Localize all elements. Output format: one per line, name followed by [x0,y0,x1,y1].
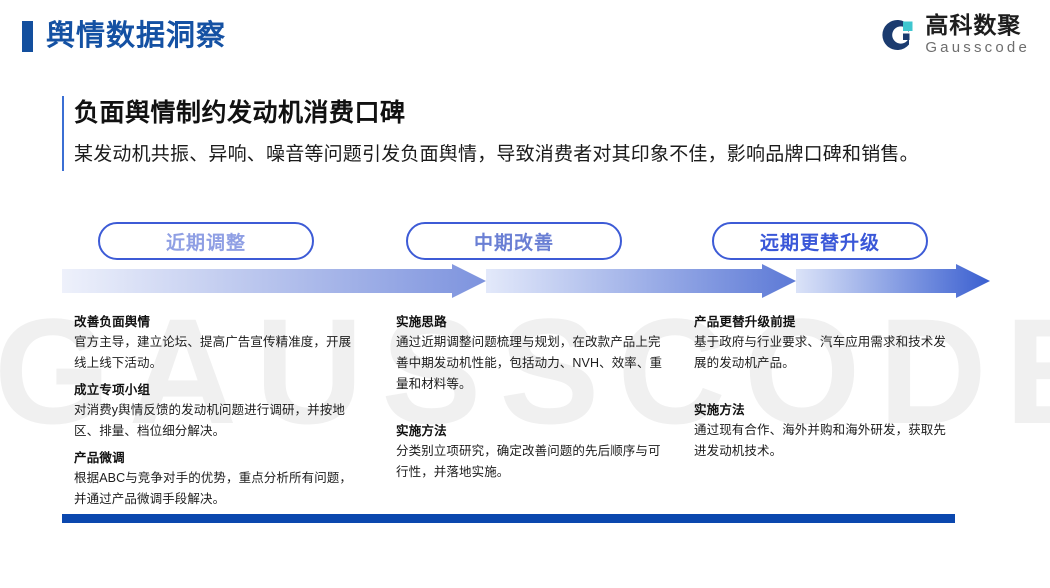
detail-block-title: 产品更替升级前提 [694,312,952,332]
detail-block: 实施方法 通过现有合作、海外并购和海外研发，获取先进发动机技术。 [694,400,952,462]
detail-block: 产品微调 根据ABC与竞争对手的优势，重点分析所有问题，并通过产品微调手段解决。 [74,448,362,510]
gausscode-logo-icon [876,15,916,55]
brand-logo: 高科数聚 Gausscode [876,14,1030,55]
detail-block: 实施方法 分类别立项研究，确定改善问题的先后顺序与可行性，并落地实施。 [396,421,668,483]
detail-block-title: 改善负面舆情 [74,312,362,332]
phase-detail-columns: 改善负面舆情 官方主导，建立论坛、提高广告宣传精准度，开展线上线下活动。 成立专… [0,312,1050,502]
phase-pill-row: 近期调整 中期改善 远期更替升级 [0,222,1050,260]
detail-block-body: 通过现有合作、海外并购和海外研发，获取先进发动机技术。 [694,420,952,462]
detail-block: 成立专项小组 对消费y舆情反馈的发动机问题进行调研，并按地区、排量、档位细分解决… [74,380,362,442]
phase-pill-mid-term-label: 中期改善 [474,228,554,255]
lead-headline: 负面舆情制约发动机消费口碑 [74,96,406,130]
title-marker-icon [22,21,33,52]
logo-name-cn: 高科数聚 [925,14,1030,37]
detail-block-title: 产品微调 [74,448,362,468]
lead-subhead: 某发动机共振、异响、噪音等问题引发负面舆情，导致消费者对其印象不佳，影响品牌口碑… [74,140,919,170]
logo-wordmark: 高科数聚 Gausscode [925,14,1030,55]
phase-pill-long-term[interactable]: 远期更替升级 [712,222,928,260]
phase-column-mid-term: 实施思路 通过近期调整问题梳理与规划，在改款产品上完善中期发动机性能，包括动力、… [396,312,668,483]
slide-canvas: GAUSSCODE 舆情数据洞察 高科数聚 Gausscode 负面舆情制约发动… [0,0,1050,588]
detail-block-title: 实施思路 [396,312,668,332]
detail-block: 改善负面舆情 官方主导，建立论坛、提高广告宣传精准度，开展线上线下活动。 [74,312,362,374]
detail-block-body: 分类别立项研究，确定改善问题的先后顺序与可行性，并落地实施。 [396,441,668,483]
detail-block-body: 根据ABC与竞争对手的优势，重点分析所有问题，并通过产品微调手段解决。 [74,468,362,510]
detail-block: 实施思路 通过近期调整问题梳理与规划，在改款产品上完善中期发动机性能，包括动力、… [396,312,668,395]
footer-accent-bar [62,514,955,523]
detail-block-title: 实施方法 [694,400,952,420]
phase-column-long-term: 产品更替升级前提 基于政府与行业要求、汽车应用需求和技术发展的发动机产品。 实施… [694,312,952,462]
phase-column-near-term: 改善负面舆情 官方主导，建立论坛、提高广告宣传精准度，开展线上线下活动。 成立专… [74,312,362,510]
detail-block-body: 基于政府与行业要求、汽车应用需求和技术发展的发动机产品。 [694,332,952,374]
detail-block-title: 实施方法 [396,421,668,441]
lead-accent-rule [62,96,64,171]
detail-block: 产品更替升级前提 基于政府与行业要求、汽车应用需求和技术发展的发动机产品。 [694,312,952,374]
timeline-arrow-band [62,264,990,298]
detail-block-body: 官方主导，建立论坛、提高广告宣传精准度，开展线上线下活动。 [74,332,362,374]
detail-block-title: 成立专项小组 [74,380,362,400]
page-title: 舆情数据洞察 [46,14,226,58]
logo-name-en: Gausscode [925,40,1030,55]
phase-pill-near-term-label: 近期调整 [166,228,246,255]
phase-pill-near-term[interactable]: 近期调整 [98,222,314,260]
phase-pill-mid-term[interactable]: 中期改善 [406,222,622,260]
detail-block-body: 对消费y舆情反馈的发动机问题进行调研，并按地区、排量、档位细分解决。 [74,400,362,442]
phase-pill-long-term-label: 远期更替升级 [760,228,880,255]
detail-block-body: 通过近期调整问题梳理与规划，在改款产品上完善中期发动机性能，包括动力、NVH、效… [396,332,668,395]
